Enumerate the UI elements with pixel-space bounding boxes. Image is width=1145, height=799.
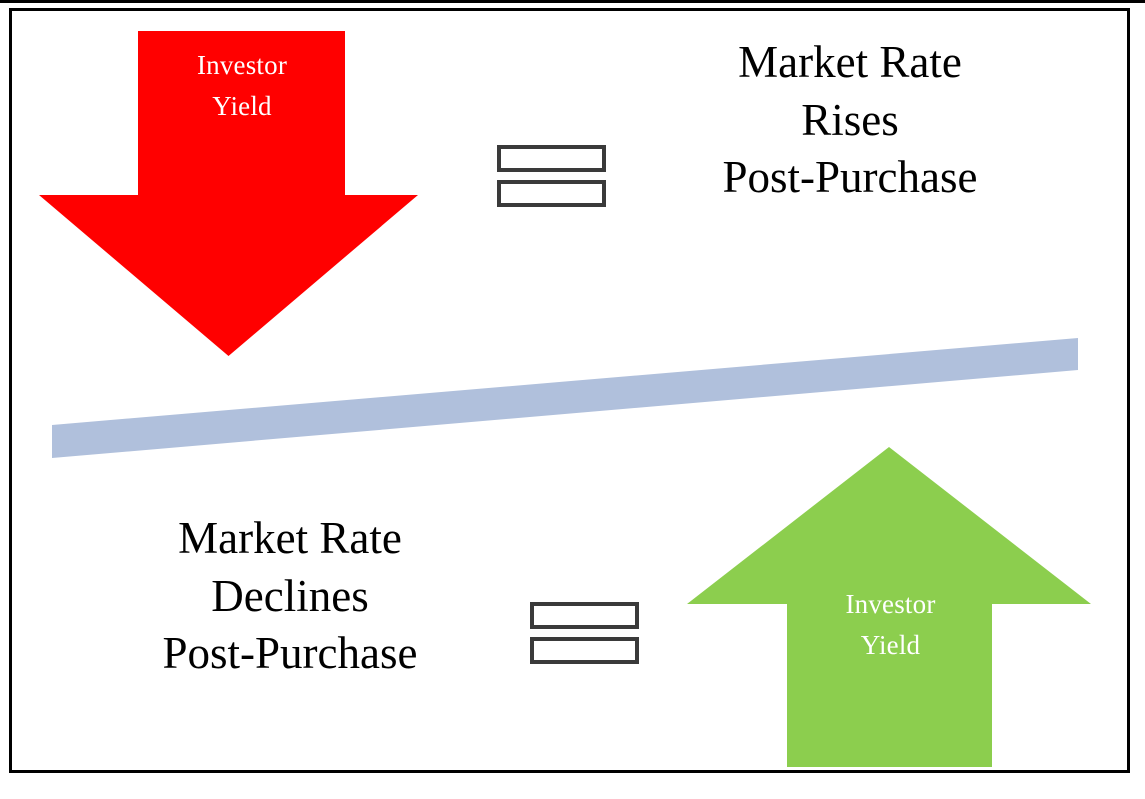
market-rate-declines-text: Market Rate Declines Post-Purchase [80,510,500,683]
market-rate-rises-text: Market Rate Rises Post-Purchase [640,34,1060,207]
equals-bar-upper [497,145,606,172]
top-edge-descender-mark [399,0,405,3]
equals-sign-top [497,145,606,207]
down-arrow-investor-yield [39,31,418,356]
top-edge-rule [0,0,1145,3]
equals-sign-bottom [530,602,639,664]
equals-bar-lower [497,180,606,207]
equals-gap [530,629,639,637]
equals-gap [497,172,606,180]
equals-bar-upper [530,602,639,629]
up-arrow-investor-yield [687,447,1091,767]
equals-bar-lower [530,637,639,664]
diagram-canvas: Investor Yield Market Rate Rises Post-Pu… [0,0,1145,799]
